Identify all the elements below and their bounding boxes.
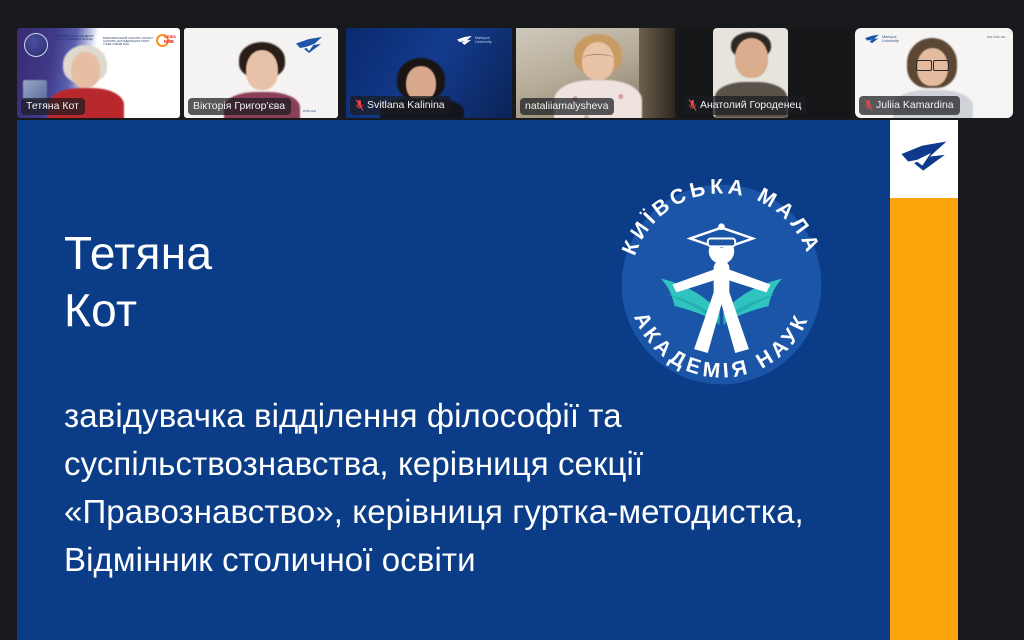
slide-accent-bar-logo-block: [890, 120, 958, 198]
participant-name-label: Svitlana Kalinina: [350, 96, 451, 115]
microphone-muted-icon: [688, 99, 697, 111]
participant-name-text: Juliia Kamardina: [876, 100, 954, 111]
conference-screen: КИЇВСЬКА МАЛА АКАДЕМІЯ НАУК УЧНІВСЬКОЇ М…: [0, 0, 1024, 640]
participant-name-text: nataliiamalysheva: [525, 101, 608, 112]
participant-name-label: Вікторія Григор'єва: [188, 98, 291, 116]
slide-body-text: завідувачка відділення філософії та сусп…: [64, 392, 879, 584]
microphone-muted-icon: [864, 99, 873, 111]
participant-name-text: Анатолий Городенец: [700, 100, 801, 111]
bird-logo-icon: [456, 35, 473, 48]
participant-tile[interactable]: MariupolUniversity mu.edu.ua Juliia Kama…: [855, 28, 1013, 118]
bird-logo-icon: [899, 140, 949, 178]
participant-tile-active-speaker[interactable]: edu.ua Вікторія Григор'єва: [184, 28, 338, 118]
participant-tile[interactable]: nataliiamalysheva: [516, 28, 675, 118]
participant-filmstrip: КИЇВСЬКА МАЛА АКАДЕМІЯ НАУК УЧНІВСЬКОЇ М…: [0, 0, 1024, 118]
slide-title: Тетяна Кот: [64, 225, 212, 339]
bird-logo-icon: [294, 36, 324, 58]
slide-accent-bar: [890, 120, 958, 640]
kyiv-small-academy-of-sciences-logo: КИЇВСЬКА МАЛА АКАДЕМІЯ НАУК: [604, 167, 839, 402]
participant-name-label: Тетяна Кот: [21, 98, 85, 116]
participant-tile[interactable]: КИЇВСЬКА МАЛА АКАДЕМІЯ НАУК УЧНІВСЬКОЇ М…: [17, 28, 180, 118]
participant-name-text: Тетяна Кот: [26, 101, 79, 112]
participant-tile[interactable]: Анатолий Городенец: [679, 28, 851, 118]
microphone-muted-icon: [355, 99, 364, 111]
participant-tile[interactable]: MariupolUniversity Svitlana Kalinina: [346, 28, 512, 118]
shared-slide: Тетяна Кот завідувачка відділення філосо…: [17, 120, 958, 640]
bird-logo-icon: [864, 34, 880, 46]
participant-name-label: nataliiamalysheva: [520, 98, 614, 116]
participant-name-label: Juliia Kamardina: [859, 96, 960, 115]
participant-name-label: Анатолий Городенец: [683, 96, 807, 115]
participant-name-text: Вікторія Григор'єва: [193, 101, 285, 112]
participant-name-text: Svitlana Kalinina: [367, 100, 445, 111]
